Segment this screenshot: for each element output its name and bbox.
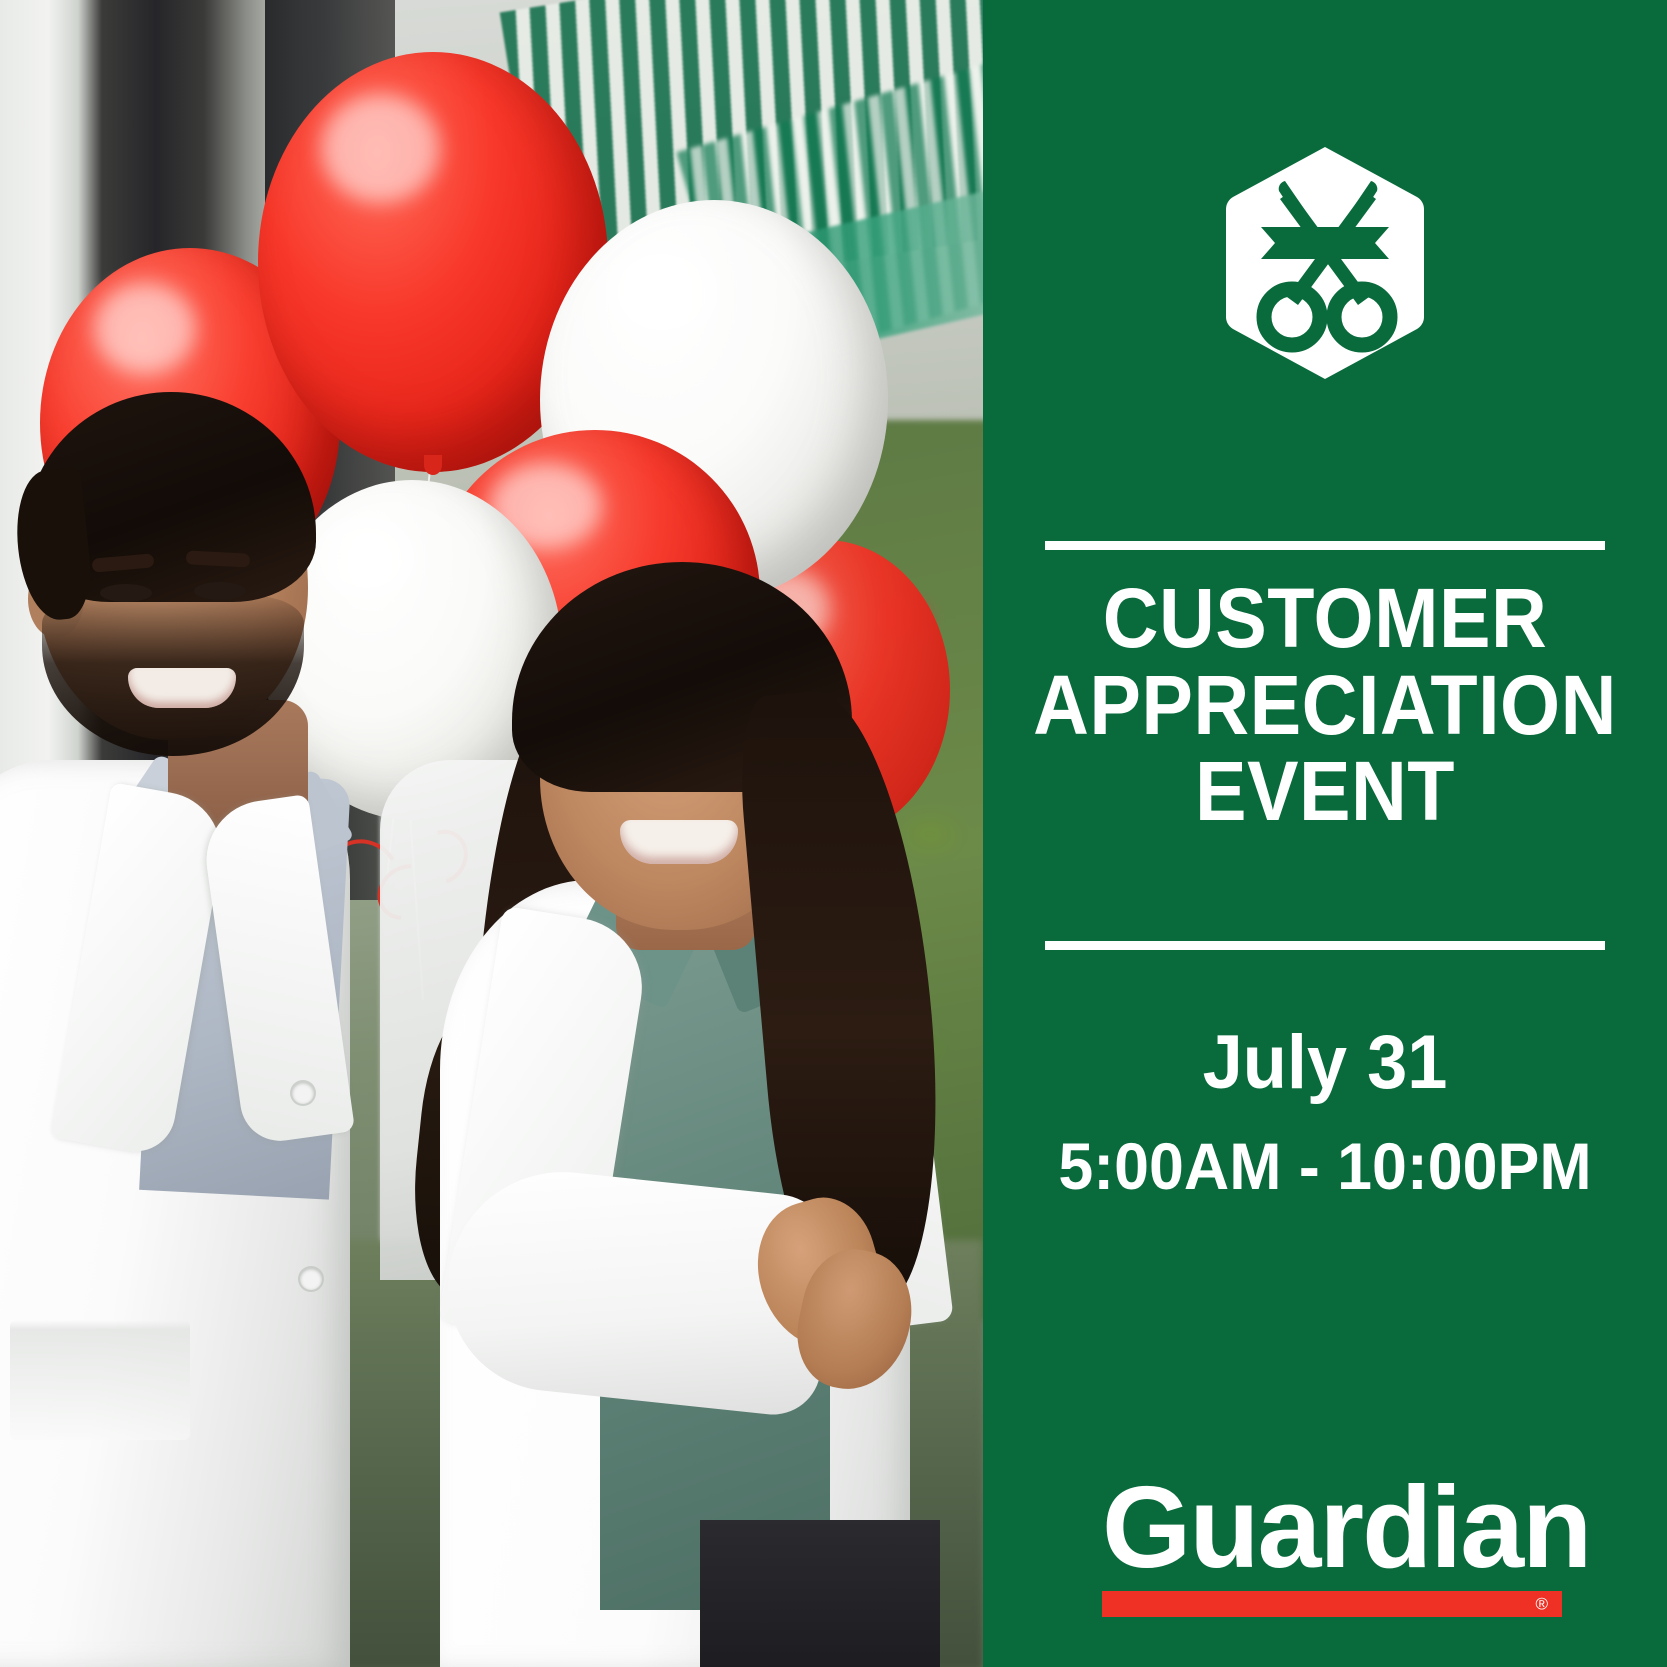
headline-line-3: EVENT (1029, 748, 1621, 835)
pharmacist-male-eye (194, 582, 246, 600)
page-title: CUSTOMER APPRECIATION EVENT (1029, 575, 1621, 835)
pharmacist-male-smile (128, 668, 236, 708)
lab-coat-button (292, 1082, 314, 1104)
guardian-wordmark: Guardian (1102, 1474, 1557, 1581)
pharmacist-female-smile (620, 820, 738, 864)
lab-coat-pocket (10, 1320, 190, 1440)
event-datetime: July 31 5:00AM - 10:00PM (1003, 1020, 1647, 1206)
ribbon-cutting-scissors-hexagon-icon (1225, 145, 1425, 381)
badge-container (983, 145, 1667, 381)
balloon-knot (424, 455, 442, 475)
guardian-logo: Guardian ® (1102, 1474, 1562, 1617)
promo-poster: CUSTOMER APPRECIATION EVENT July 31 5:00… (0, 0, 1667, 1667)
event-time: 5:00AM - 10:00PM (1019, 1127, 1631, 1206)
info-panel: CUSTOMER APPRECIATION EVENT July 31 5:00… (983, 0, 1667, 1667)
registered-trademark-icon: ® (1535, 1595, 1548, 1612)
event-photo (0, 0, 983, 1667)
pharmacist-male-eye (100, 584, 152, 602)
divider-rule-bottom (1045, 941, 1605, 950)
divider-rule-top (1045, 541, 1605, 550)
headline-line-1: CUSTOMER (1029, 575, 1621, 662)
guardian-logo-bar: ® (1102, 1591, 1562, 1617)
pharmacist-female-trousers (700, 1520, 940, 1667)
event-date: July 31 (1019, 1020, 1631, 1105)
lab-coat-button (300, 1268, 322, 1290)
headline-line-2: APPRECIATION (1029, 662, 1621, 749)
